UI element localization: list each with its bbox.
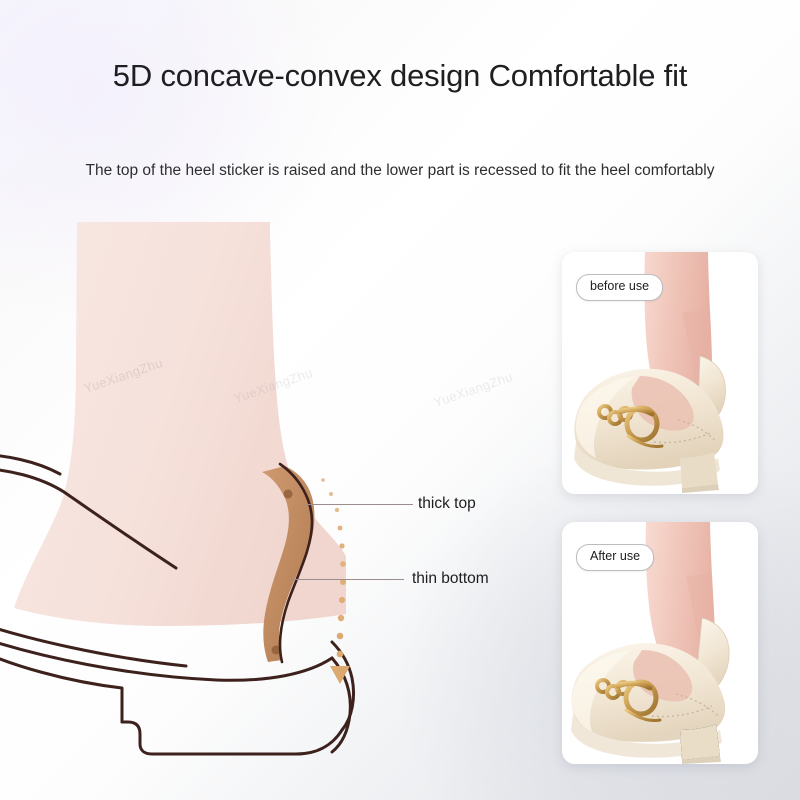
leader-line-thick-top bbox=[305, 504, 413, 505]
callout-thin-bottom: thin bottom bbox=[412, 570, 489, 588]
page-title: 5D concave-convex design Comfortable fit bbox=[0, 58, 800, 94]
callout-thick-top: thick top bbox=[418, 495, 476, 513]
badge-before-use: before use bbox=[576, 274, 663, 301]
watermark-text: YueXiangZhu bbox=[432, 369, 515, 410]
anchor-dot-thick bbox=[284, 490, 293, 499]
badge-after-use: After use bbox=[576, 544, 654, 571]
product-infographic-page: 5D concave-convex design Comfortable fit… bbox=[0, 0, 800, 800]
photo-card-after-use[interactable]: After use bbox=[562, 522, 758, 764]
leader-line-thin-bottom bbox=[292, 579, 404, 580]
page-subtitle: The top of the heel sticker is raised an… bbox=[0, 162, 800, 180]
heel-sticker-illustration bbox=[0, 222, 410, 782]
photo-card-before-use[interactable]: before use bbox=[562, 252, 758, 494]
